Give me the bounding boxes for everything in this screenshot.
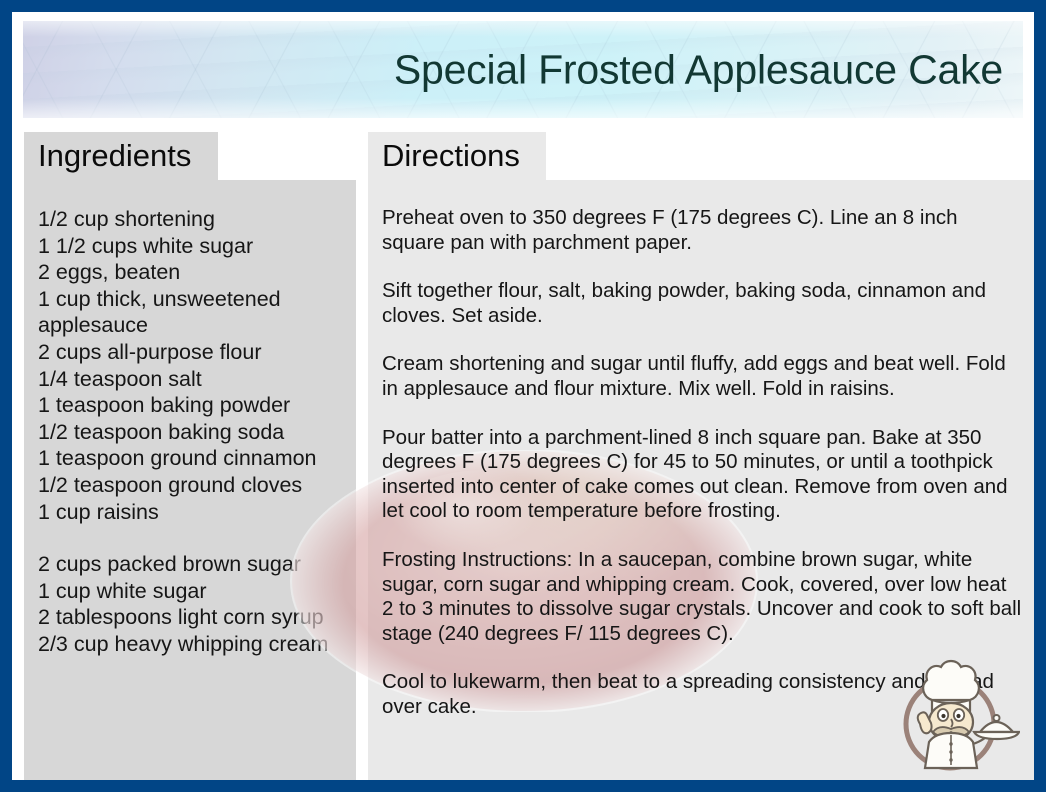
ingredient-item: 1/2 cup shortening: [38, 206, 342, 233]
ingredient-item: 1/4 teaspoon salt: [38, 366, 342, 393]
direction-paragraph: Frosting Instructions: In a saucepan, co…: [382, 548, 1022, 646]
page-title: Special Frosted Applesauce Cake: [394, 46, 1003, 93]
direction-paragraph: Sift together flour, salt, baking powder…: [382, 279, 1022, 328]
ingredient-item: 1 teaspoon baking powder: [38, 392, 342, 419]
directions-section: Directions Preheat oven to 350 degrees F…: [368, 132, 1036, 792]
direction-paragraph: Cream shortening and sugar until fluffy,…: [382, 352, 1022, 401]
ingredient-item: 2 tablespoons light corn syrup: [38, 604, 342, 631]
ingredient-item: 1 teaspoon ground cinnamon: [38, 445, 342, 472]
ingredients-panel: 1/2 cup shortening1 1/2 cups white sugar…: [24, 180, 356, 792]
ingredient-item: 1/2 teaspoon baking soda: [38, 419, 342, 446]
direction-paragraph: Cool to lukewarm, then beat to a spreadi…: [382, 670, 1022, 719]
ingredient-item: 2 cups packed brown sugar: [38, 551, 342, 578]
ingredient-item: 2/3 cup heavy whipping cream: [38, 631, 342, 658]
ingredients-list: 1/2 cup shortening1 1/2 cups white sugar…: [38, 206, 342, 658]
direction-paragraph: Pour batter into a parchment-lined 8 inc…: [382, 426, 1022, 524]
ingredients-section: Ingredients 1/2 cup shortening1 1/2 cups…: [24, 132, 356, 792]
banner-highlight-top: [23, 21, 1023, 37]
ingredient-item: 2 eggs, beaten: [38, 259, 342, 286]
ingredient-item: 1 cup white sugar: [38, 578, 342, 605]
direction-paragraph: Preheat oven to 350 degrees F (175 degre…: [382, 206, 1022, 255]
ingredient-item: 1 1/2 cups white sugar: [38, 233, 342, 260]
ingredient-item: 2 cups all-purpose flour: [38, 339, 342, 366]
ingredient-item: 1 cup thick, unsweetened applesauce: [38, 286, 342, 339]
ingredient-item: 1/2 teaspoon ground cloves: [38, 472, 342, 499]
directions-body: Preheat oven to 350 degrees F (175 degre…: [382, 206, 1022, 720]
ingredients-heading: Ingredients: [24, 132, 218, 180]
banner-highlight-bottom: [23, 98, 1023, 118]
directions-heading: Directions: [368, 132, 546, 180]
ingredient-item: 1 cup raisins: [38, 499, 342, 526]
ingredient-group-separator: [38, 525, 342, 551]
recipe-card: Special Frosted Applesauce Cake Ingredie…: [0, 0, 1046, 792]
directions-panel: Preheat oven to 350 degrees F (175 degre…: [368, 180, 1036, 792]
title-banner: Special Frosted Applesauce Cake: [23, 21, 1023, 118]
